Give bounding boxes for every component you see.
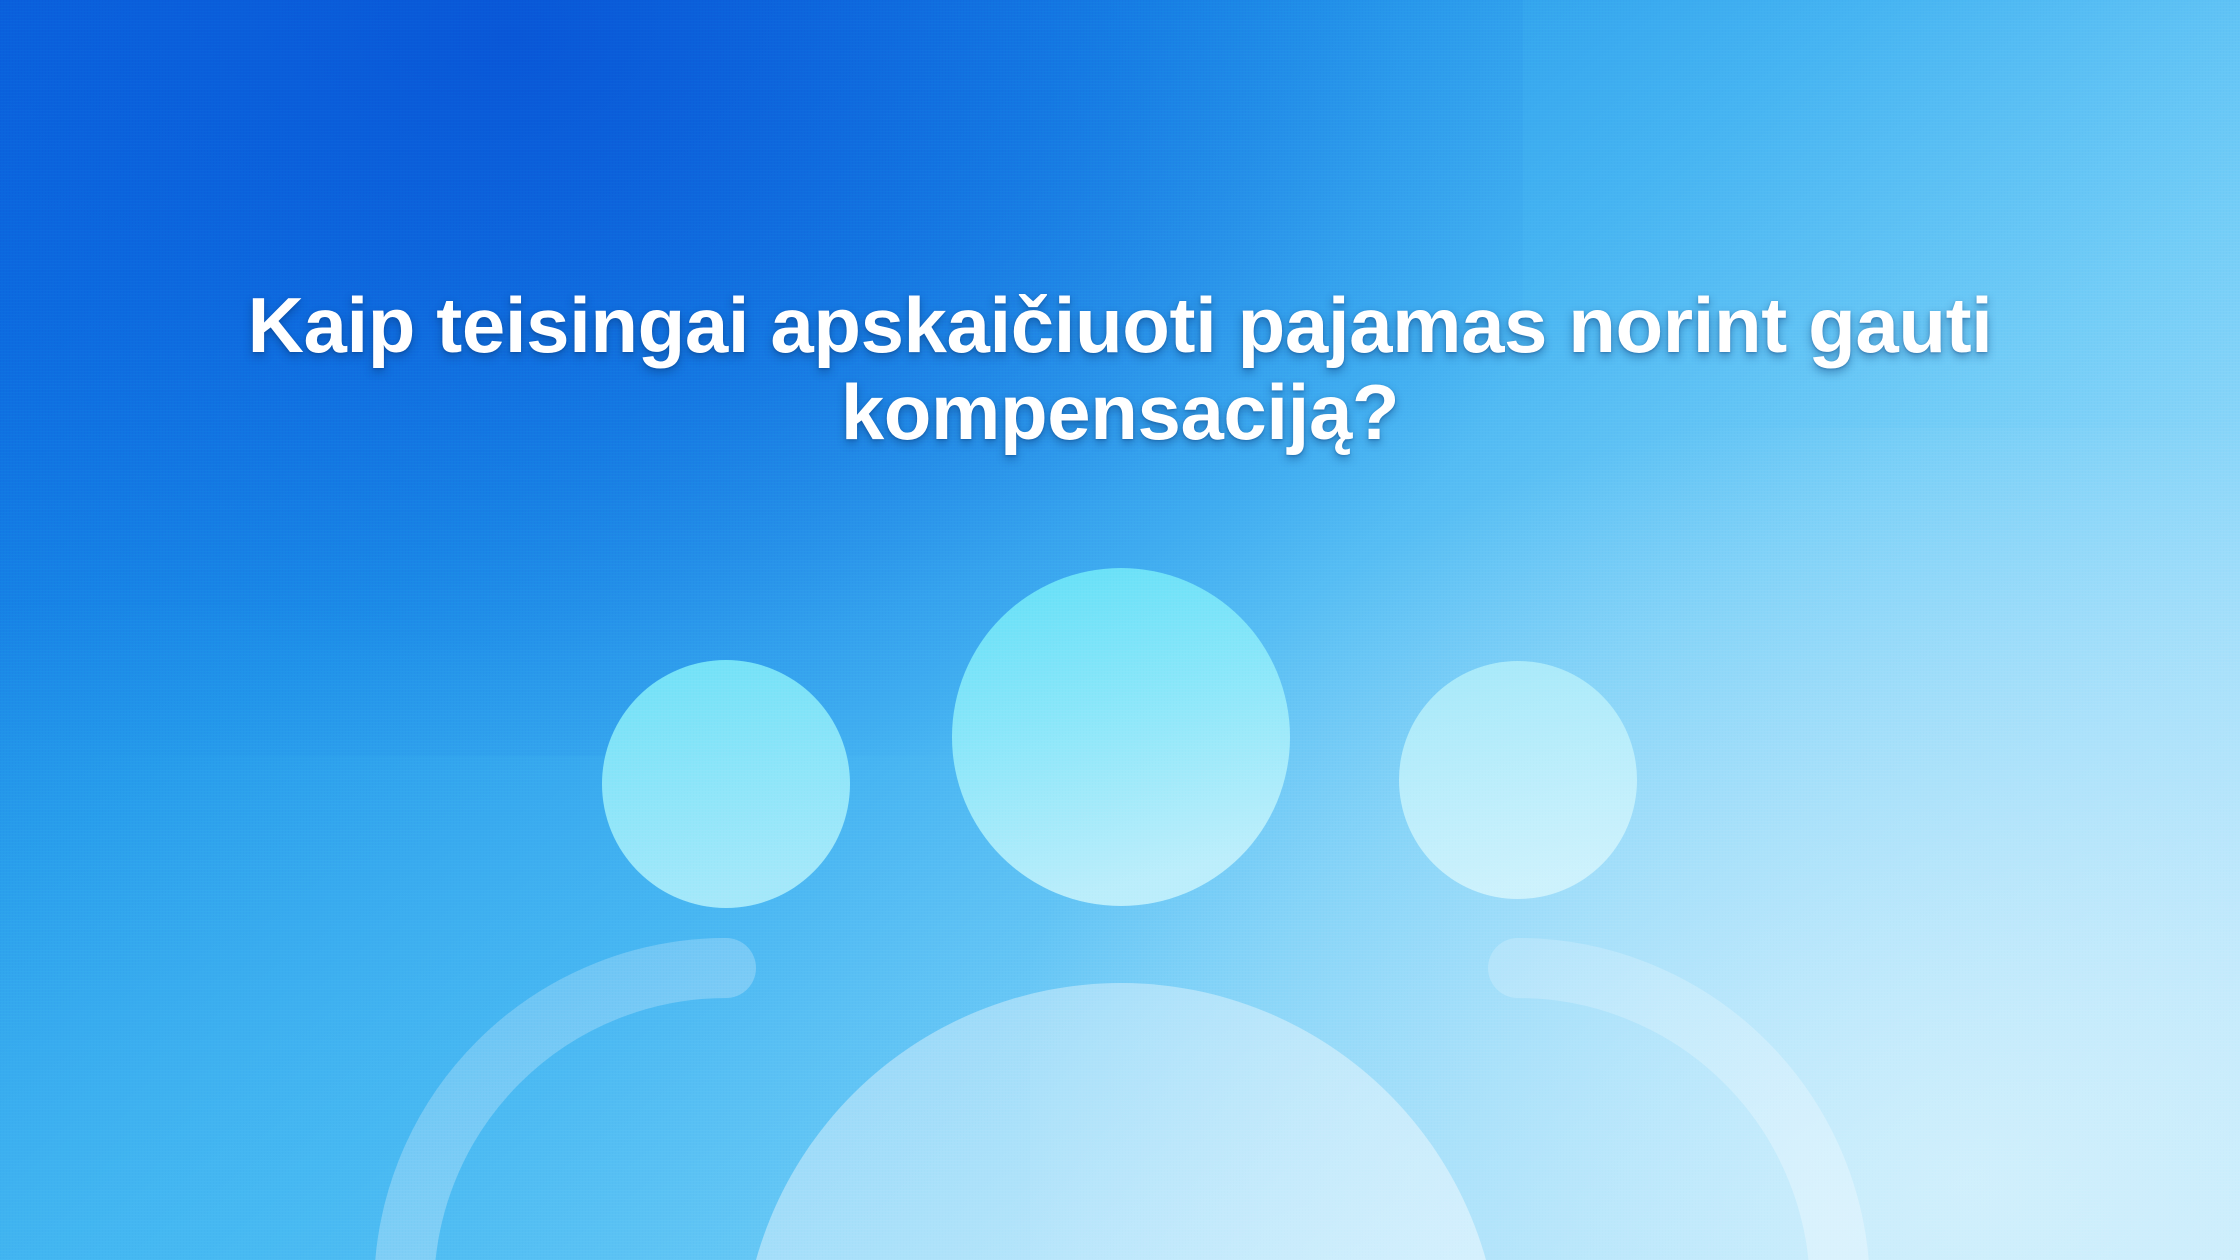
page-title: Kaip teisingai apskaičiuoti pajamas nori… — [170, 282, 2070, 457]
background-glow-bottom-right — [1030, 428, 2240, 1260]
title-container: Kaip teisingai apskaičiuoti pajamas nori… — [0, 282, 2240, 457]
background-glow-bottom-left — [0, 605, 1075, 1260]
banner-canvas: Kaip teisingai apskaičiuoti pajamas nori… — [0, 0, 2240, 1260]
